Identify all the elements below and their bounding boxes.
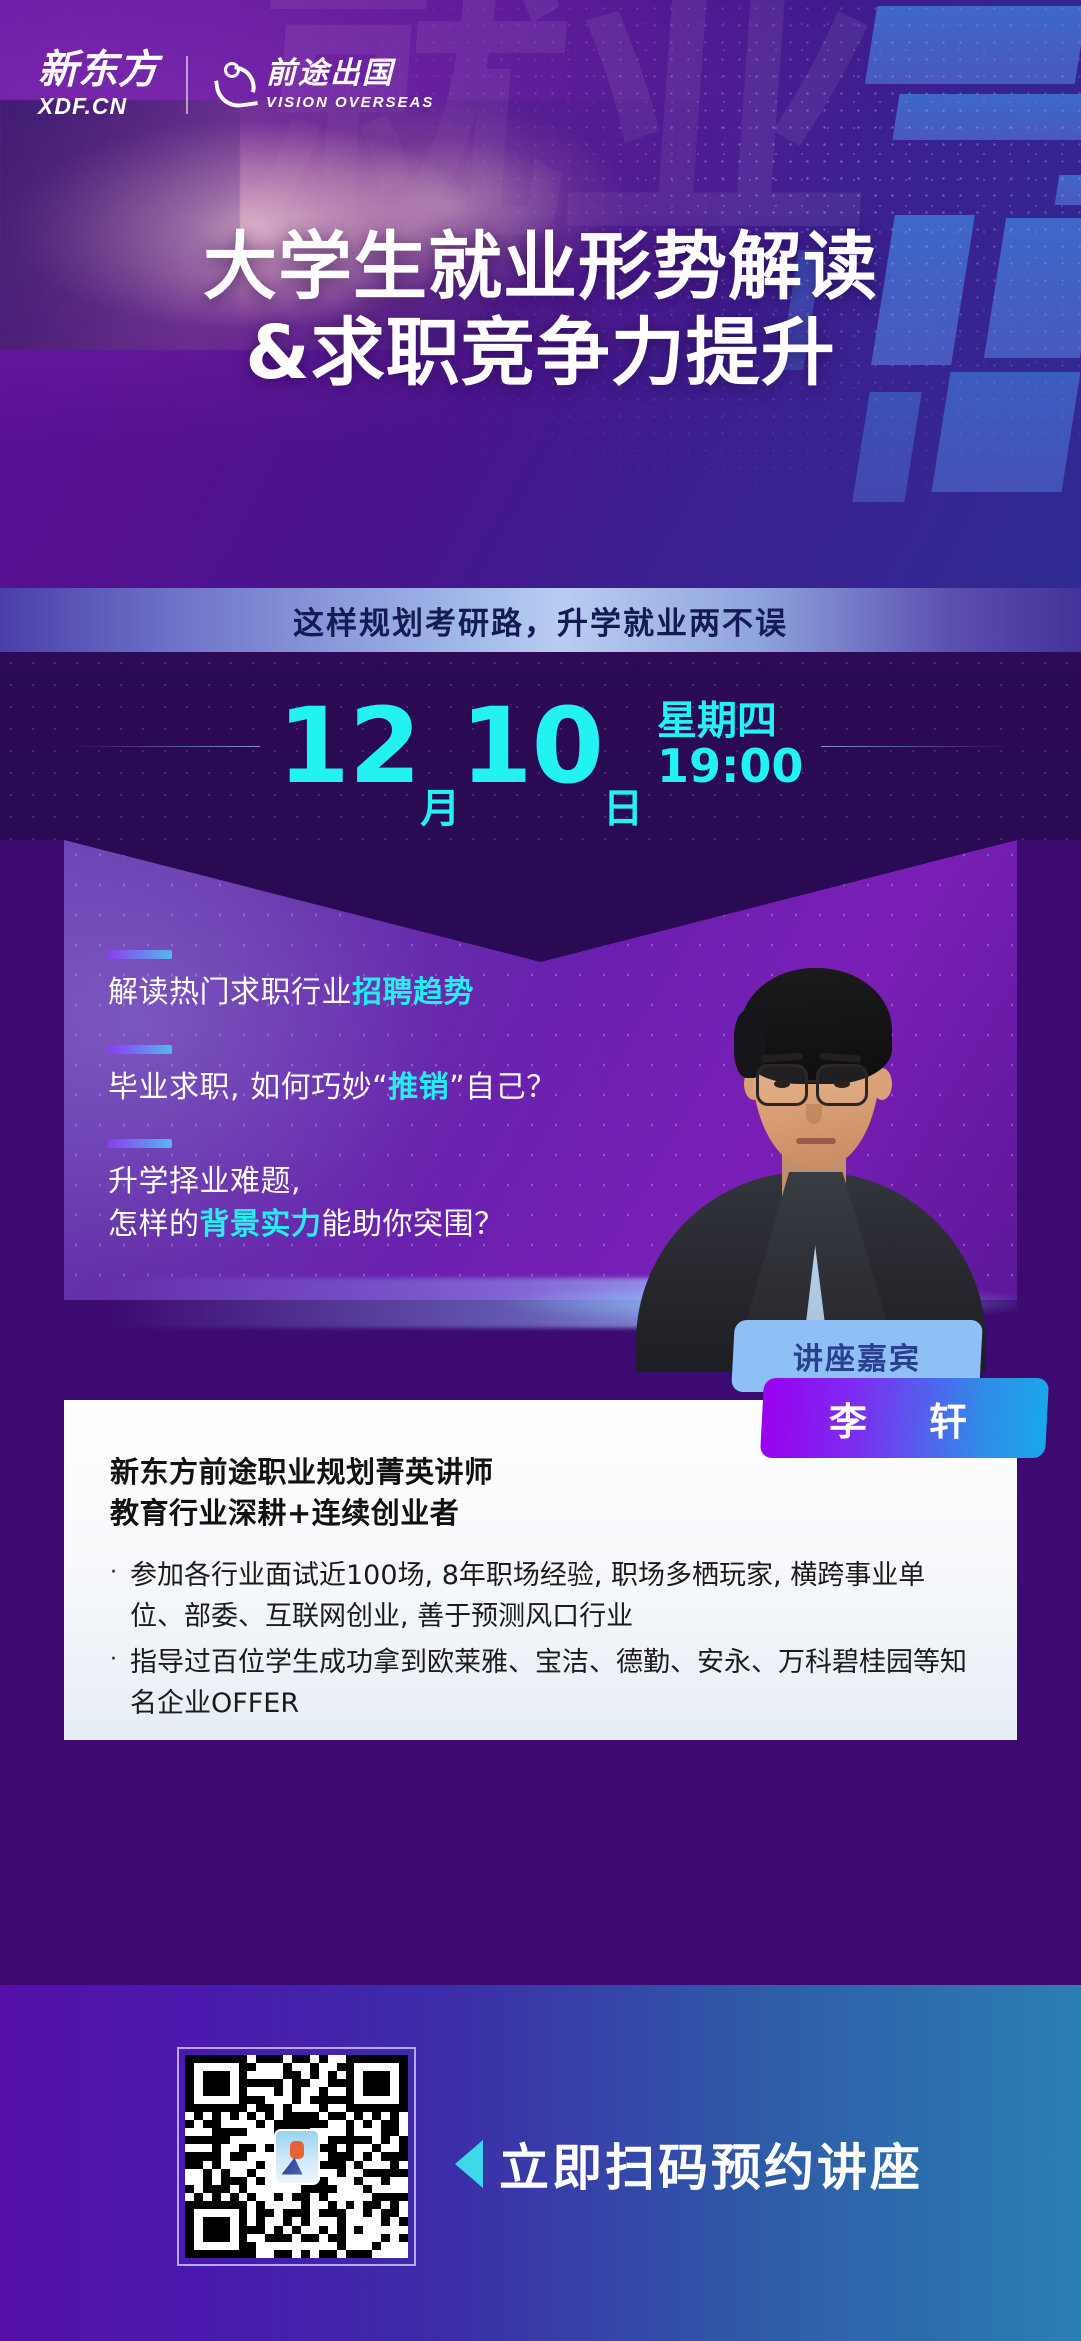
- vision-overseas-mark-icon: [216, 62, 256, 108]
- highlight-keyword: 推销: [388, 1070, 449, 1105]
- bullet-icon: ·: [110, 1556, 130, 1637]
- xdf-logo: 新东方 XDF.CN: [38, 50, 158, 120]
- list-item: · 参加各行业面试近100场, 8年职场经验, 职场多栖玩家, 横跨事业单位、部…: [110, 1556, 971, 1637]
- triangle-left-icon: [455, 2140, 483, 2188]
- highlight-text: 解读热门求职行业招聘趋势: [108, 972, 668, 1015]
- xdf-logo-en: XDF.CN: [38, 93, 127, 120]
- dash-marker-icon: [108, 1045, 172, 1054]
- xdf-logo-cn: 新东方: [38, 50, 158, 90]
- date-day-number: 10: [460, 694, 603, 798]
- dash-marker-icon: [108, 1139, 172, 1148]
- qr-code-icon[interactable]: [185, 2055, 408, 2258]
- vision-logo-cn: 前途出国: [266, 59, 434, 89]
- date-month-number: 12: [278, 694, 421, 798]
- highlight-after: 能助你突围？: [322, 1207, 505, 1242]
- speaker-photo: [620, 872, 1000, 1372]
- subtitle-band: 这样规划考研路，升学就业两不误: [0, 588, 1081, 652]
- list-item: 升学择业难题, 怎样的背景实力能助你突围？: [108, 1139, 668, 1246]
- date-month-unit: 月: [420, 776, 460, 840]
- subtitle-text: 这样规划考研路，升学就业两不误: [293, 598, 788, 643]
- speaker-heading-1: 新东方前途职业规划菁英讲师: [110, 1452, 971, 1493]
- qr-center-logo-icon: [274, 2129, 320, 2185]
- highlight-after: ”自己？: [449, 1070, 557, 1105]
- highlight-before: 解读热门求职行业: [108, 975, 352, 1010]
- speaker-name-label: 李 轩: [829, 1391, 979, 1446]
- vision-overseas-logo: 前途出国 VISION OVERSEAS: [216, 59, 434, 111]
- bullet-text: 指导过百位学生成功拿到欧莱雅、宝洁、德勤、安永、万科碧桂园等知名企业OFFER: [130, 1643, 971, 1724]
- date-day-unit: 日: [603, 776, 643, 840]
- qr-code-frame[interactable]: [177, 2047, 416, 2266]
- date-time: 19:00: [657, 743, 803, 791]
- date-weekday: 星期四: [657, 701, 803, 743]
- cta-group[interactable]: 立即扫码预约讲座: [455, 2128, 923, 2200]
- bullet-icon: ·: [110, 1643, 130, 1724]
- bullet-text: 参加各行业面试近100场, 8年职场经验, 职场多栖玩家, 横跨事业单位、部委、…: [130, 1556, 971, 1637]
- hero-title: 大学生就业形势解读 &求职竞争力提升: [0, 225, 1081, 397]
- logo-divider: [186, 56, 188, 114]
- logo-group: 新东方 XDF.CN 前途出国 VISION OVERSEAS: [38, 50, 434, 120]
- dash-marker-icon: [108, 950, 172, 959]
- highlight-keyword: 背景实力: [200, 1207, 322, 1242]
- highlight-before: 毕业求职, 如何巧妙“: [108, 1070, 388, 1105]
- highlight-text: 升学择业难题, 怎样的背景实力能助你突围？: [108, 1161, 668, 1246]
- date-section: 12 月 10 日 星期四 19:00: [0, 652, 1081, 840]
- vision-logo-en: VISION OVERSEAS: [266, 94, 434, 111]
- speaker-heading-2: 教育行业深耕+连续创业者: [110, 1493, 971, 1534]
- title-line-2: &求职竞争力提升: [0, 311, 1081, 397]
- list-item: 解读热门求职行业招聘趋势: [108, 950, 668, 1015]
- hero-section: 就业 新东方 XDF.CN 前途出国 VISION OVERSEAS: [0, 0, 1081, 640]
- poster-root: 就业 新东方 XDF.CN 前途出国 VISION OVERSEAS: [0, 0, 1081, 2341]
- title-line-1: 大学生就业形势解读: [0, 225, 1081, 311]
- highlight-list: 解读热门求职行业招聘趋势 毕业求职, 如何巧妙“推销”自己？ 升学择业难题, 怎…: [108, 950, 668, 1276]
- highlight-keyword: 招聘趋势: [352, 975, 474, 1010]
- speaker-role-label: 讲座嘉宾: [793, 1334, 921, 1378]
- speaker-bullet-list: · 参加各行业面试近100场, 8年职场经验, 职场多栖玩家, 横跨事业单位、部…: [110, 1556, 971, 1724]
- list-item: · 指导过百位学生成功拿到欧莱雅、宝洁、德勤、安永、万科碧桂园等知名企业OFFE…: [110, 1643, 971, 1724]
- list-item: 毕业求职, 如何巧妙“推销”自己？: [108, 1045, 668, 1110]
- highlight-text: 毕业求职, 如何巧妙“推销”自己？: [108, 1067, 668, 1110]
- speaker-name-tag: 李 轩: [760, 1378, 1049, 1458]
- cta-label: 立即扫码预约讲座: [499, 2128, 923, 2200]
- highlights-section: 解读热门求职行业招聘趋势 毕业求职, 如何巧妙“推销”自己？ 升学择业难题, 怎…: [0, 840, 1081, 1340]
